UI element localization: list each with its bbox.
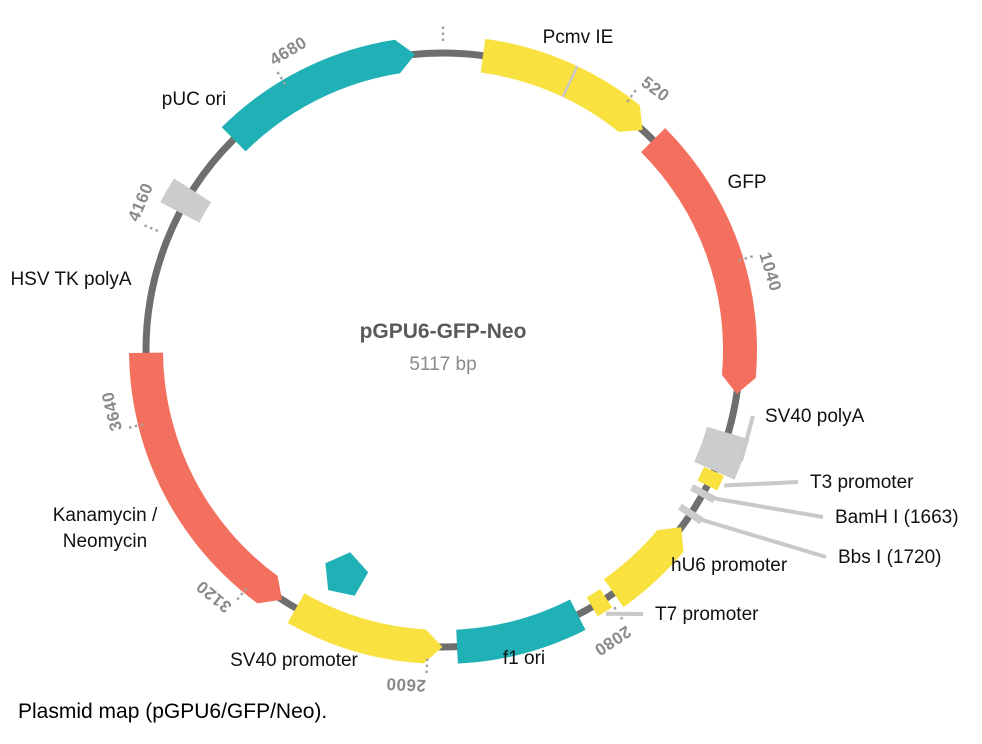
feature-label-puc-ori: pUC ori	[162, 89, 226, 110]
plasmid-map-figure: 5201040208026003120364041604680 SV40 pol…	[0, 0, 982, 744]
feature-arc-pcmv-ie	[481, 39, 643, 132]
feature-label-t7-promoter: T7 promoter	[655, 604, 759, 625]
leader-line-bbs-i	[698, 519, 826, 557]
tick-label-2080: 2080	[591, 622, 635, 660]
labels-layer: SV40 polyAT3 promoterBamH I (1663)Bbs I …	[10, 27, 958, 671]
tick-label-1040: 1040	[755, 250, 785, 294]
tick-mark-4160	[141, 224, 158, 231]
center-title-group: pGPU6-GFP-Neo 5117 bp	[360, 320, 527, 375]
leader-line-bamh-i	[711, 498, 823, 517]
feature-label-bamh-i: BamH I (1663)	[835, 507, 959, 528]
tick-label-2600: 2600	[386, 674, 427, 695]
feature-arc-puc-ori	[222, 40, 415, 152]
feature-label-hsv-tk-polya: HSV TK polyA	[10, 269, 131, 290]
tick-label-3120: 3120	[192, 577, 235, 617]
feature-label-kanamycin-neomycin: Kanamycin /Neomycin	[53, 505, 158, 552]
label-line-2: Neomycin	[63, 531, 147, 552]
feature-label-bbs-i: Bbs I (1720)	[838, 547, 942, 568]
tick-label-4680: 4680	[266, 33, 310, 70]
tick-mark-2600	[426, 659, 427, 677]
feature-arc-kanamycin-neomycin	[129, 353, 282, 604]
figure-caption: Plasmid map (pGPU6/GFP/Neo).	[18, 700, 327, 724]
feature-box-hsv-tk-polya	[160, 179, 211, 223]
feature-label-f1-ori: f1 ori	[503, 648, 545, 669]
tick-label-520: 520	[638, 73, 673, 106]
feature-label-t3-promoter: T3 promoter	[810, 472, 914, 493]
leader-line-t3-promoter	[724, 482, 798, 486]
tick-label-4160: 4160	[124, 180, 157, 224]
plasmid-diagram: 5201040208026003120364041604680 SV40 pol…	[0, 0, 982, 744]
feature-label-sv40-polya: SV40 polyA	[765, 406, 865, 427]
feature-pentagon	[325, 552, 368, 596]
label-line-1: Kanamycin /	[53, 505, 158, 526]
feature-label-gfp: GFP	[727, 172, 766, 193]
features-layer	[129, 39, 757, 664]
plasmid-size-label: 5117 bp	[409, 354, 476, 375]
feature-label-sv40-promoter: SV40 promoter	[230, 650, 358, 671]
tick-label-3640: 3640	[98, 390, 126, 433]
feature-label-pcmv-ie: Pcmv IE	[543, 27, 614, 48]
plasmid-title: pGPU6-GFP-Neo	[360, 320, 527, 343]
feature-label-hu6-promoter: hU6 promoter	[671, 555, 788, 576]
